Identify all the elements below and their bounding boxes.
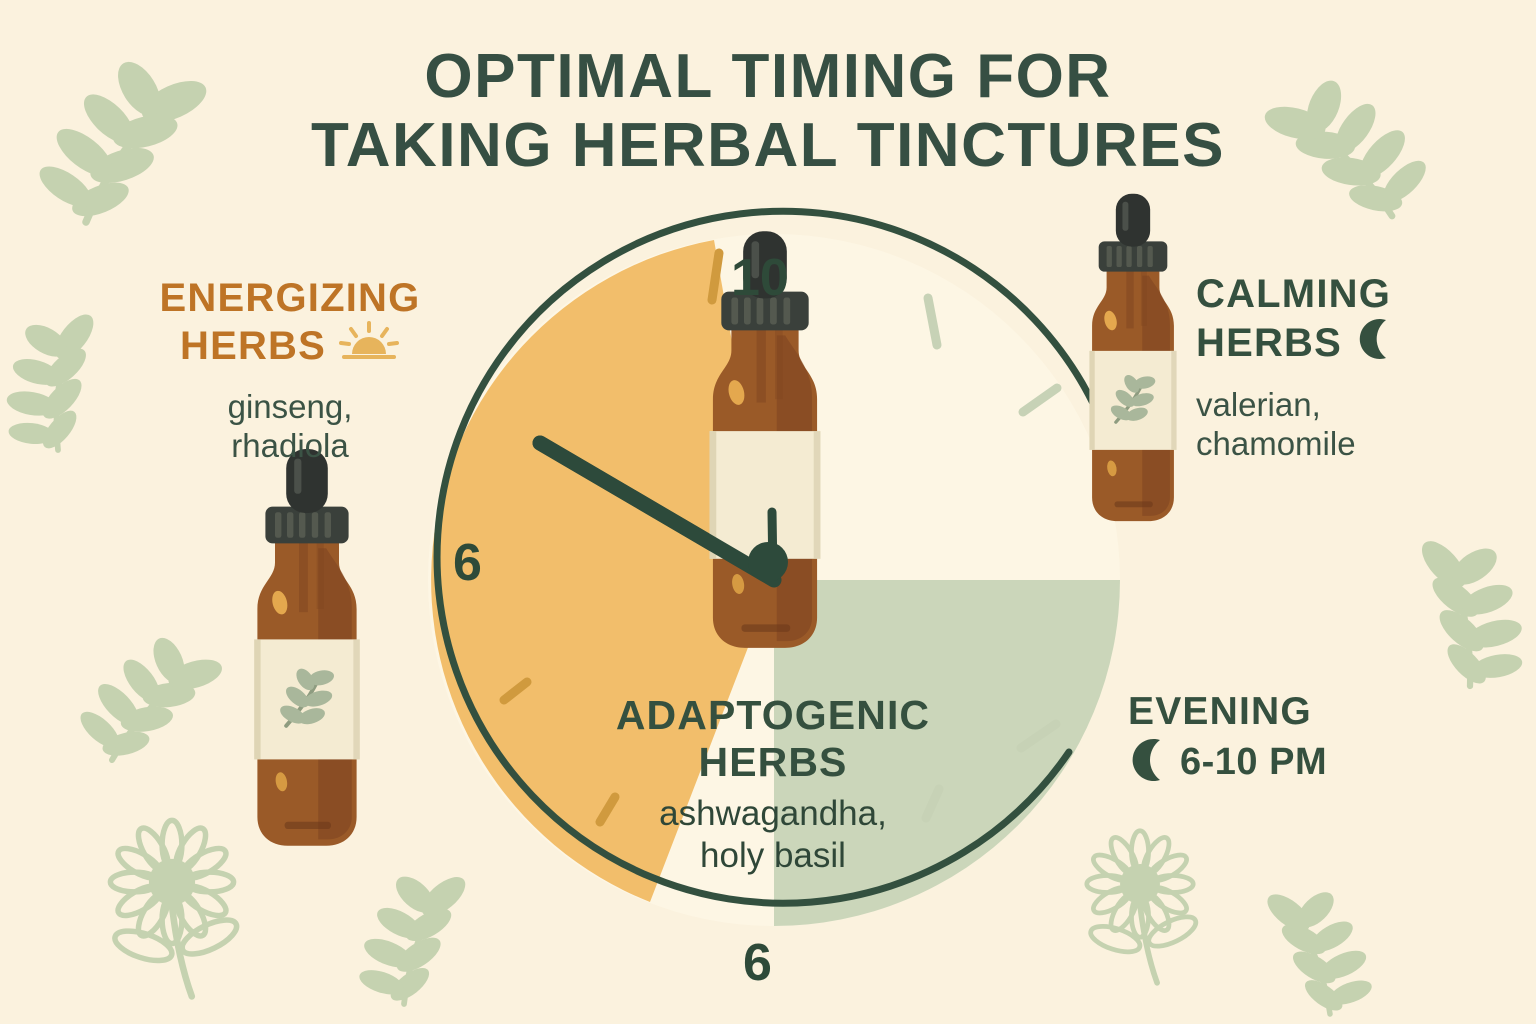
energizing-herb-1: ginseng, [110,387,470,427]
dial-numeral-top: 10 [731,248,789,308]
dial-numeral-left: 6 [453,533,482,593]
energizing-heading-line-1: ENERGIZING [110,276,470,321]
poster-title: OPTIMAL TIMING FOR TAKING HERBAL TINCTUR… [0,42,1536,181]
calming-herb-1: valerian, [1196,385,1526,425]
clock-hub-overlay [748,542,788,582]
crescent-moon-icon [1356,317,1396,371]
crescent-moon-icon-evening [1128,736,1170,789]
energizing-herbs-group: ENERGIZING HERBS [110,276,470,466]
adaptogenic-herb-1: ashwagandha, [538,793,1008,834]
title-line-1: OPTIMAL TIMING FOR [424,42,1111,111]
evening-heading: EVENING [1128,690,1418,734]
energizing-herb-2: rhadiola [110,426,470,466]
adaptogenic-heading: ADAPTOGENIC HERBS [538,692,1008,785]
energizing-heading-line-2: HERBS [180,324,326,369]
sunrise-icon [338,321,400,373]
evening-time-range: 6-10 PM [1180,741,1327,784]
evening-timing-group: EVENING 6-10 PM [1128,690,1418,789]
adaptogenic-herb-list: ashwagandha, holy basil [538,793,1008,876]
calming-herbs-group: CALMING HERBS valerian, chamomile [1196,272,1526,464]
energizing-herb-list: ginseng, rhadiola [110,387,470,466]
adaptogenic-herbs-group: ADAPTOGENIC HERBS ashwagandha, holy basi… [538,692,1008,876]
adaptogenic-heading-line-1: ADAPTOGENIC [538,692,1008,739]
calming-herb-2: chamomile [1196,424,1526,464]
calming-heading-line-2: HERBS [1196,321,1342,366]
dial-numeral-bottom: 6 [743,933,772,993]
calming-herb-list: valerian, chamomile [1196,385,1526,464]
infographic-poster: OPTIMAL TIMING FOR TAKING HERBAL TINCTUR… [0,0,1536,1024]
calming-heading: CALMING HERBS [1196,272,1526,371]
energizing-heading: ENERGIZING HERBS [110,276,470,373]
minute-hand-overlay [540,443,774,580]
calming-heading-line-1: CALMING [1196,272,1526,317]
adaptogenic-heading-line-2: HERBS [538,739,1008,786]
title-line-2: TAKING HERBAL TINCTURES [0,111,1536,180]
adaptogenic-herb-2: holy basil [538,835,1008,876]
